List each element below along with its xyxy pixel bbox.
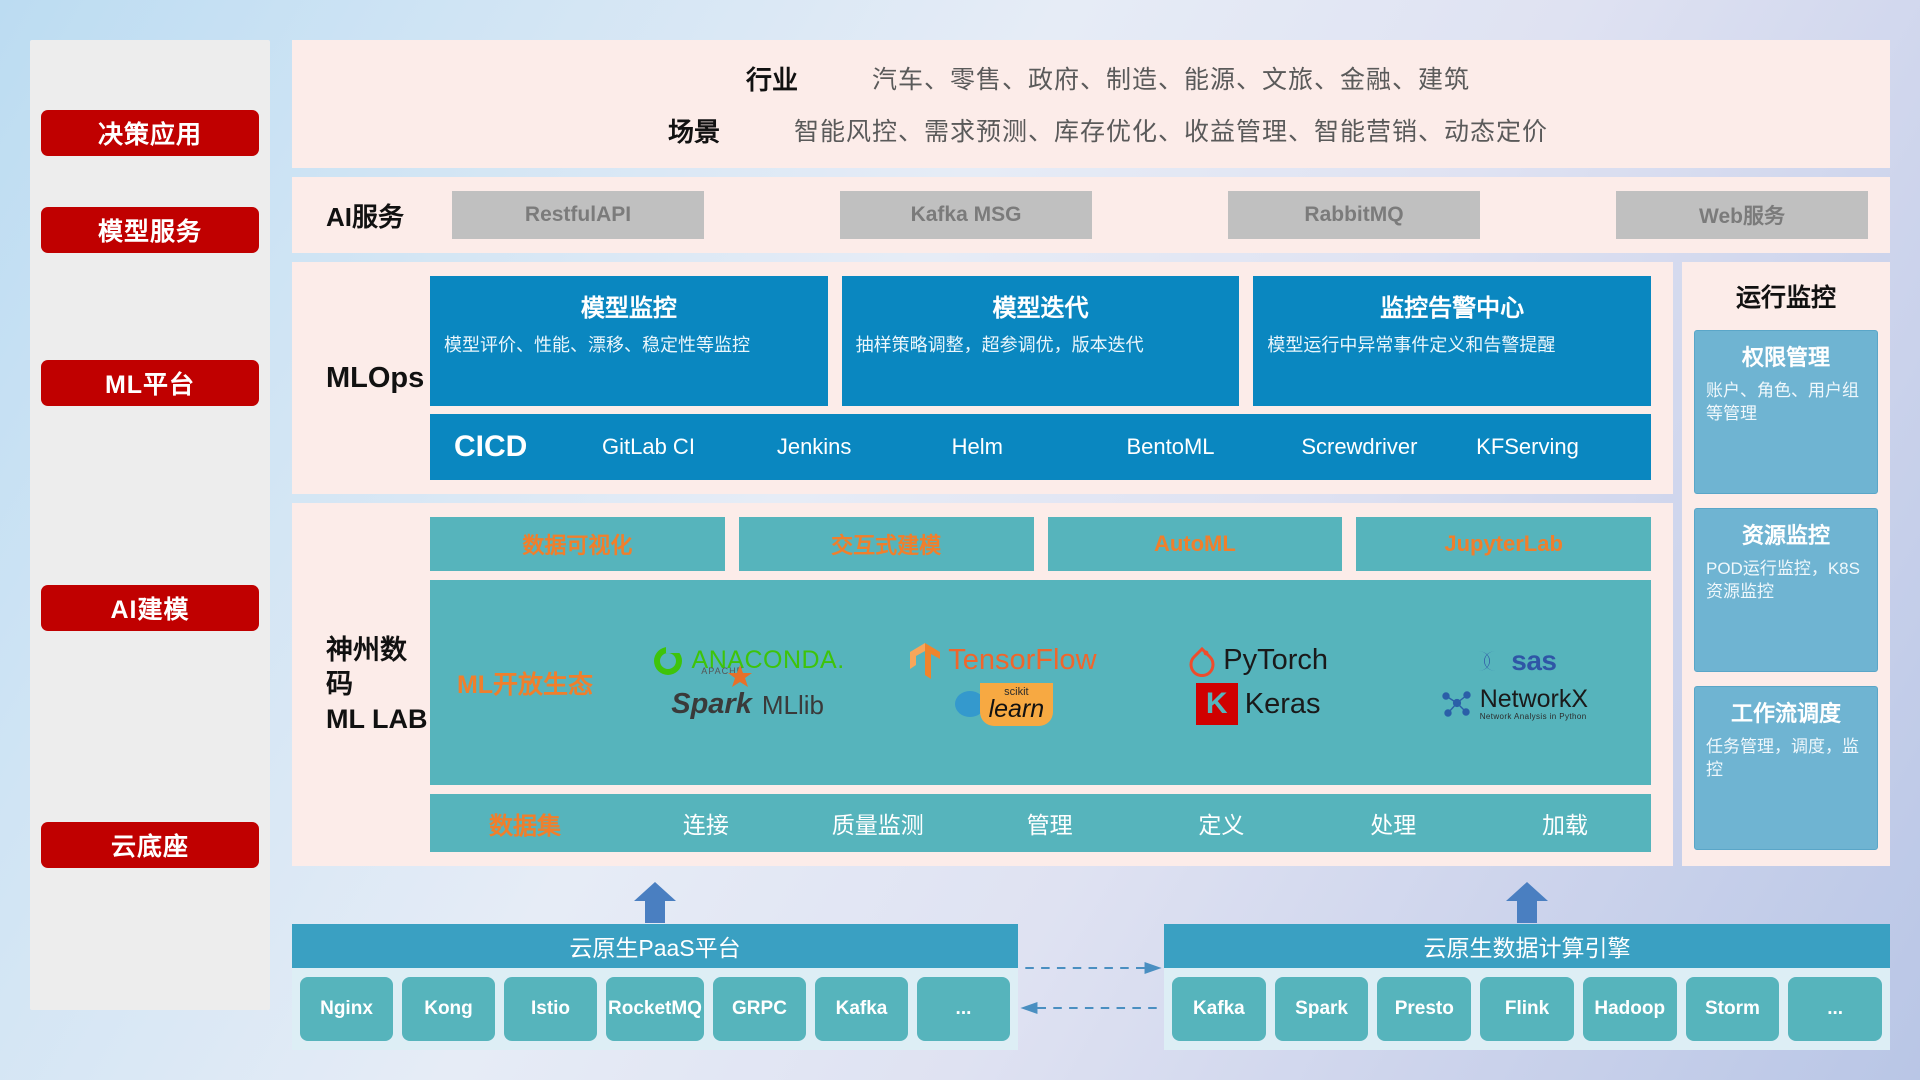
- networkx-subtitle: Network Analysis in Python: [1480, 712, 1588, 721]
- dashed-arrows-icon: [1018, 882, 1164, 1050]
- mlops-body: 模型监控 模型评价、性能、漂移、稳定性等监控 模型迭代 抽样策略调整，超参调优，…: [430, 276, 1651, 480]
- dataset-item-quality[interactable]: 质量监测: [792, 806, 964, 840]
- tensorflow-text: TensorFlow: [948, 644, 1096, 677]
- cicd-item-bentoml[interactable]: BentoML: [1126, 435, 1301, 458]
- card-desc: 账户、角色、用户组等管理: [1706, 379, 1866, 425]
- tab-interactive-modeling[interactable]: 交互式建模: [739, 517, 1034, 571]
- paas-title: 云原生PaaS平台: [292, 924, 1018, 968]
- ai-chip-rabbitmq[interactable]: RabbitMQ: [1228, 191, 1480, 239]
- mlops-card-model-iteration[interactable]: 模型迭代 抽样策略调整，超参调优，版本迭代: [842, 276, 1240, 406]
- cicd-items: GitLab CI Jenkins Helm BentoML Screwdriv…: [602, 435, 1651, 458]
- card-title: 模型监控: [581, 288, 677, 323]
- paas-tile-grpc[interactable]: GRPC: [713, 977, 806, 1041]
- ai-service-band: AI服务 RestfulAPI Kafka MSG RabbitMQ Web服务: [292, 177, 1890, 253]
- mlops-card-alert-center[interactable]: 监控告警中心 模型运行中异常事件定义和告警提醒: [1253, 276, 1651, 406]
- card-desc: POD运行监控，K8S资源监控: [1706, 557, 1866, 603]
- engine-tile-kafka[interactable]: Kafka: [1172, 977, 1266, 1041]
- keras-text: Keras: [1245, 688, 1321, 721]
- spark-text: Spark: [671, 688, 752, 720]
- ml-lab-band: 神州数码 ML LAB 数据可视化 交互式建模 AutoML JupyterLa…: [292, 503, 1673, 866]
- engine-tile-more[interactable]: ...: [1788, 977, 1882, 1041]
- card-desc: 模型评价、性能、漂移、稳定性等监控: [444, 333, 814, 358]
- scikit-learn-text: learn: [989, 698, 1045, 722]
- rail-item-ml-platform[interactable]: ML平台: [41, 360, 259, 406]
- monitor-card-permission[interactable]: 权限管理 账户、角色、用户组等管理: [1694, 330, 1878, 494]
- engine-up-arrow-icon: [1504, 881, 1550, 923]
- ai-service-items: RestfulAPI Kafka MSG RabbitMQ Web服务: [452, 191, 1890, 239]
- keras-badge-icon: K: [1196, 683, 1238, 725]
- paas-tile-rocketmq[interactable]: RocketMQ: [606, 977, 704, 1041]
- ml-ecosystem-label: ML开放生态: [430, 665, 620, 701]
- compute-engine-block: 云原生数据计算引擎 Kafka Spark Presto Flink Hadoo…: [1164, 882, 1890, 1050]
- spark-star-icon: [727, 664, 753, 690]
- monitor-card-workflow[interactable]: 工作流调度 任务管理，调度，监控: [1694, 686, 1878, 850]
- cicd-title: CICD: [454, 430, 602, 464]
- paas-tiles: Nginx Kong Istio RocketMQ GRPC Kafka ...: [292, 968, 1018, 1050]
- rail-item-decision-app[interactable]: 决策应用: [41, 110, 259, 156]
- cicd-item-kfserving[interactable]: KFServing: [1476, 435, 1651, 458]
- card-title: 模型迭代: [993, 288, 1089, 323]
- card-desc: 模型运行中异常事件定义和告警提醒: [1267, 333, 1637, 358]
- scenario-row: 场景 智能风控、需求预测、库存优化、收益管理、智能营销、动态定价: [668, 104, 1548, 156]
- rail-label: 云底座: [111, 827, 189, 863]
- ml-ecosystem-panel: ML开放生态 ANACONDA.: [430, 580, 1651, 785]
- engine-title: 云原生数据计算引擎: [1164, 924, 1890, 968]
- ml-lab-label-line2: ML LAB: [326, 702, 430, 737]
- paas-up-arrow-icon: [632, 881, 678, 923]
- rail-label: ML平台: [105, 365, 195, 401]
- rail-item-ai-modeling[interactable]: AI建模: [41, 585, 259, 631]
- ml-ecosystem-logos: ANACONDA. TensorFlow: [620, 639, 1641, 727]
- rail-label: AI建模: [110, 590, 189, 626]
- industry-scenario-band: 行业 汽车、零售、政府、制造、能源、文旅、金融、建筑 场景 智能风控、需求预测、…: [292, 40, 1890, 168]
- layer-rail: 决策应用 模型服务 ML平台 AI建模 云底座: [30, 40, 270, 1010]
- rail-label: 模型服务: [98, 212, 202, 248]
- pytorch-logo: PyTorch: [1188, 644, 1328, 677]
- networkx-graph-icon: [1439, 689, 1473, 719]
- pytorch-text: PyTorch: [1223, 644, 1328, 677]
- card-title: 工作流调度: [1706, 696, 1866, 728]
- cicd-item-screwdriver[interactable]: Screwdriver: [1301, 435, 1476, 458]
- ai-chip-restfulapi[interactable]: RestfulAPI: [452, 191, 704, 239]
- paas-tile-istio[interactable]: Istio: [504, 977, 597, 1041]
- ai-chip-kafka-msg[interactable]: Kafka MSG: [840, 191, 1092, 239]
- paas-tile-kafka[interactable]: Kafka: [815, 977, 908, 1041]
- architecture-diagram: 决策应用 模型服务 ML平台 AI建模 云底座 行业 汽车、零售、政府、制造、能…: [0, 0, 1920, 1080]
- cicd-row: CICD GitLab CI Jenkins Helm BentoML Scre…: [430, 414, 1651, 480]
- card-title: 权限管理: [1706, 340, 1866, 372]
- sas-icon: [1470, 646, 1504, 676]
- tensorflow-icon: [909, 642, 941, 680]
- runtime-monitor-panel: 运行监控 权限管理 账户、角色、用户组等管理 资源监控 POD运行监控，K8S资…: [1682, 262, 1890, 866]
- networkx-text: NetworkX: [1480, 687, 1588, 712]
- rail-item-cloud-base[interactable]: 云底座: [41, 822, 259, 868]
- engine-tile-storm[interactable]: Storm: [1686, 977, 1780, 1041]
- dataset-items: 连接 质量监测 管理 定义 处理 加载: [620, 806, 1651, 840]
- dataset-label: 数据集: [430, 806, 620, 841]
- mlops-cards: 模型监控 模型评价、性能、漂移、稳定性等监控 模型迭代 抽样策略调整，超参调优，…: [430, 276, 1651, 406]
- engine-tile-spark[interactable]: Spark: [1275, 977, 1369, 1041]
- scikit-learn-logo: scikit learn: [953, 683, 1054, 727]
- dataset-item-connect[interactable]: 连接: [620, 806, 792, 840]
- card-title: 监控告警中心: [1380, 288, 1524, 323]
- runtime-monitor-title: 运行监控: [1694, 278, 1878, 314]
- card-title: 资源监控: [1706, 518, 1866, 550]
- paas-block: 云原生PaaS平台 Nginx Kong Istio RocketMQ GRPC…: [292, 882, 1018, 1050]
- paas-engine-connector: [1018, 882, 1164, 1050]
- industry-value: 汽车、零售、政府、制造、能源、文旅、金融、建筑: [872, 60, 1470, 96]
- keras-k-text: K: [1206, 687, 1228, 721]
- ai-service-label: AI服务: [326, 197, 452, 234]
- cicd-item-jenkins[interactable]: Jenkins: [777, 435, 952, 458]
- tab-automl[interactable]: AutoML: [1048, 517, 1343, 571]
- card-desc: 任务管理，调度，监控: [1706, 735, 1866, 781]
- ml-lab-label-line1: 神州数码: [326, 633, 430, 702]
- ml-lab-label: 神州数码 ML LAB: [326, 517, 430, 852]
- tensorflow-logo: TensorFlow: [909, 642, 1096, 680]
- scenario-value: 智能风控、需求预测、库存优化、收益管理、智能营销、动态定价: [794, 112, 1548, 148]
- pytorch-icon: [1188, 645, 1216, 677]
- infrastructure-row: 云原生PaaS平台 Nginx Kong Istio RocketMQ GRPC…: [292, 882, 1890, 1050]
- dataset-item-load[interactable]: 加载: [1479, 806, 1651, 840]
- ml-lab-tabs: 数据可视化 交互式建模 AutoML JupyterLab: [430, 517, 1651, 571]
- monitor-card-resource[interactable]: 资源监控 POD运行监控，K8S资源监控: [1694, 508, 1878, 672]
- card-desc: 抽样策略调整，超参调优，版本迭代: [856, 333, 1226, 358]
- cicd-item-gitlab-ci[interactable]: GitLab CI: [602, 435, 777, 458]
- engine-tile-hadoop[interactable]: Hadoop: [1583, 977, 1677, 1041]
- networkx-logo: NetworkX Network Analysis in Python: [1439, 687, 1588, 721]
- ai-chip-web-service[interactable]: Web服务: [1616, 191, 1868, 239]
- dataset-item-manage[interactable]: 管理: [964, 806, 1136, 840]
- mlops-label: MLOps: [326, 276, 430, 480]
- dataset-item-process[interactable]: 处理: [1307, 806, 1479, 840]
- engine-tile-flink[interactable]: Flink: [1480, 977, 1574, 1041]
- paas-tile-kong[interactable]: Kong: [402, 977, 495, 1041]
- mlops-band: MLOps 模型监控 模型评价、性能、漂移、稳定性等监控 模型迭代 抽样策略调整…: [292, 262, 1673, 494]
- engine-tile-presto[interactable]: Presto: [1377, 977, 1471, 1041]
- platform-left: MLOps 模型监控 模型评价、性能、漂移、稳定性等监控 模型迭代 抽样策略调整…: [292, 262, 1673, 866]
- paas-tile-more[interactable]: ...: [917, 977, 1010, 1041]
- industry-key: 行业: [746, 60, 872, 97]
- tab-data-visualization[interactable]: 数据可视化: [430, 517, 725, 571]
- dataset-row: 数据集 连接 质量监测 管理 定义 处理 加载: [430, 794, 1651, 852]
- dataset-item-define[interactable]: 定义: [1135, 806, 1307, 840]
- paas-tile-nginx[interactable]: Nginx: [300, 977, 393, 1041]
- mlops-card-model-monitoring[interactable]: 模型监控 模型评价、性能、漂移、稳定性等监控: [430, 276, 828, 406]
- anaconda-icon: [651, 644, 685, 678]
- main-stack: 行业 汽车、零售、政府、制造、能源、文旅、金融、建筑 场景 智能风控、需求预测、…: [292, 40, 1890, 1050]
- sas-text: sas: [1511, 645, 1556, 677]
- keras-logo: K Keras: [1196, 683, 1321, 725]
- industry-row: 行业 汽车、零售、政府、制造、能源、文旅、金融、建筑: [746, 52, 1470, 104]
- engine-tiles: Kafka Spark Presto Flink Hadoop Storm ..…: [1164, 968, 1890, 1050]
- spark-mllib-logo: APACHE Spark MLlib: [671, 688, 824, 721]
- spark-mllib-text: MLlib: [762, 690, 824, 721]
- tab-jupyterlab[interactable]: JupyterLab: [1356, 517, 1651, 571]
- ml-lab-body: 数据可视化 交互式建模 AutoML JupyterLab ML开放生态: [430, 517, 1651, 852]
- cicd-item-helm[interactable]: Helm: [952, 435, 1127, 458]
- rail-item-model-service[interactable]: 模型服务: [41, 207, 259, 253]
- rail-label: 决策应用: [98, 115, 202, 151]
- platform-region: MLOps 模型监控 模型评价、性能、漂移、稳定性等监控 模型迭代 抽样策略调整…: [292, 262, 1890, 866]
- scenario-key: 场景: [668, 112, 794, 149]
- sas-logo: sas: [1470, 645, 1556, 677]
